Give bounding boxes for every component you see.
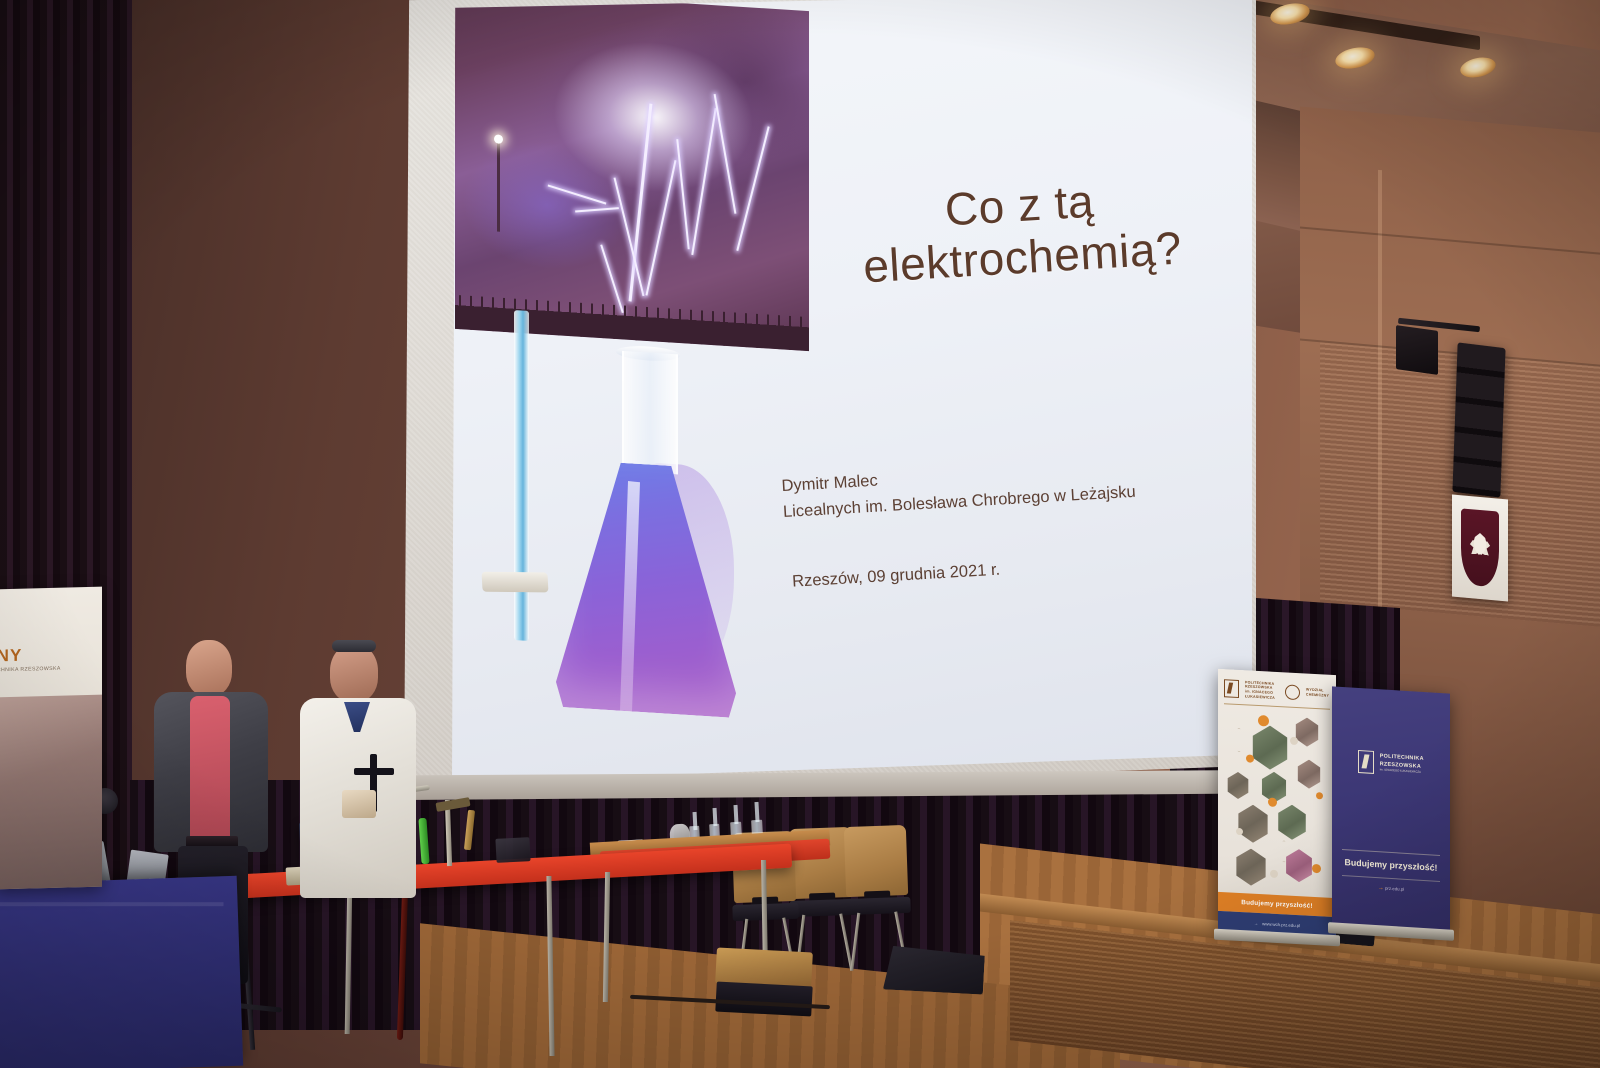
banner-white-logo-sub: im. IGNACEGO ŁUKASIEWICZA <box>1245 689 1279 700</box>
banner-far-left-text-2: CZNY <box>0 647 22 666</box>
flask-photo <box>474 302 744 739</box>
speaker-wedge <box>1396 325 1438 375</box>
banner-blue-rule-2 <box>1342 875 1440 882</box>
wydzial-chemiczny-logo-icon <box>1285 684 1300 700</box>
chair <box>844 825 908 897</box>
banner-white-logo-text: POLITECHNIKA RZESZOWSKA im. IGNACEGO ŁUK… <box>1245 680 1279 700</box>
banner-white-header: POLITECHNIKA RZESZOWSKA im. IGNACEGO ŁUK… <box>1224 675 1330 707</box>
head <box>330 644 378 702</box>
accent-dot <box>1268 798 1277 807</box>
line-array-speaker-icon <box>1452 342 1505 497</box>
banner-blue-logo-text: POLITECHNIKA RZESZOWSKA im. IGNACEGO ŁUK… <box>1380 754 1450 777</box>
politechnika-logo-icon <box>1358 750 1374 774</box>
collage-hex <box>1236 804 1270 844</box>
slide-title: Co z tą elektrochemią? <box>853 170 1189 292</box>
banner-blue-rule <box>1342 849 1440 856</box>
accent-dot-pale <box>1290 737 1298 745</box>
tower-light-icon <box>497 141 500 231</box>
accent-dot <box>1312 864 1321 873</box>
held-apparatus-cross <box>354 768 394 775</box>
accent-dot-pale <box>1270 870 1278 878</box>
accent-dot <box>1246 754 1254 762</box>
presenter-in-lab-coat <box>300 644 420 904</box>
arrow-icon: → <box>1378 885 1384 891</box>
accent-dot <box>1258 715 1269 727</box>
banner-far-left-sub: POLITECHNIKA RZESZOWSKA <box>0 666 61 674</box>
arrow-icon: → <box>1254 920 1258 925</box>
flask-body <box>556 459 736 718</box>
banner-white-faculty-text: WYDZIAŁ CHEMICZNY <box>1306 688 1330 699</box>
banner-white-url: www.wch.prz.edu.pl <box>1262 921 1300 928</box>
banner-white-slogan: Budujemy przyszłość! <box>1241 899 1312 910</box>
banner-blue-logo: POLITECHNIKA RZESZOWSKA im. IGNACEGO ŁUK… <box>1358 750 1450 779</box>
banner-wydzial-chemiczny: POLITECHNIKA RZESZOWSKA im. IGNACEGO ŁUK… <box>1218 669 1336 937</box>
av-table-blue-cloth <box>0 876 243 1068</box>
slide-author-block: Dymitr Malec Licealnych im. Bolesława Ch… <box>781 450 1203 525</box>
collage-hex <box>1250 725 1290 771</box>
banner-far-left-photo <box>0 695 102 890</box>
collage-hex <box>1226 771 1250 799</box>
white-eagle-icon <box>1469 532 1491 564</box>
glasses-on-head-icon <box>332 640 376 652</box>
slide-date: Rzeszów, 09 grudnia 2021 r. <box>792 555 1093 591</box>
accent-dot <box>1316 792 1323 799</box>
collage-hex-outline <box>1228 727 1250 752</box>
head <box>186 640 232 696</box>
presentation-slide: Co z tą elektrochemią? Dymitr Malec Lice… <box>452 0 1252 782</box>
banner-blue-slogan: Budujemy przyszłość! <box>1332 856 1450 873</box>
chair-back <box>844 825 908 897</box>
collage-hex <box>1296 759 1322 789</box>
flask-neck <box>622 351 678 475</box>
lightning-storm-photo <box>455 0 809 351</box>
banner-politechnika-rzeszowska: POLITECHNIKA RZESZOWSKA im. IGNACEGO ŁUK… <box>1332 686 1450 931</box>
cloth-fold <box>0 902 224 906</box>
polish-coat-of-arms <box>1452 495 1508 602</box>
banner-blue-url-text: prz.edu.pl <box>1385 886 1404 892</box>
chair-seat <box>844 897 911 915</box>
collage-hex <box>1234 848 1268 887</box>
hands <box>342 790 376 818</box>
burette-clamp-icon <box>482 572 549 593</box>
flask-neck <box>713 808 718 826</box>
emblem-shield <box>1461 508 1499 587</box>
banner-far-left: AŁ CZNY POLITECHNIKA RZESZOWSKA <box>0 587 102 890</box>
hexagon-photo-collage <box>1224 709 1330 891</box>
flask-neck <box>693 812 698 830</box>
shirt <box>190 696 230 848</box>
banner-blue-url: → prz.edu.pl <box>1332 882 1450 895</box>
dark-apparatus <box>495 837 530 863</box>
accent-dot-pale <box>1236 828 1243 835</box>
erlenmeyer-flask-icon <box>556 347 736 718</box>
collage-hex <box>1276 804 1308 841</box>
collage-hex <box>1294 717 1320 747</box>
lecture-hall-photo: Co z tą elektrochemią? Dymitr Malec Lice… <box>0 0 1600 1068</box>
politechnika-logo-icon <box>1224 679 1239 698</box>
